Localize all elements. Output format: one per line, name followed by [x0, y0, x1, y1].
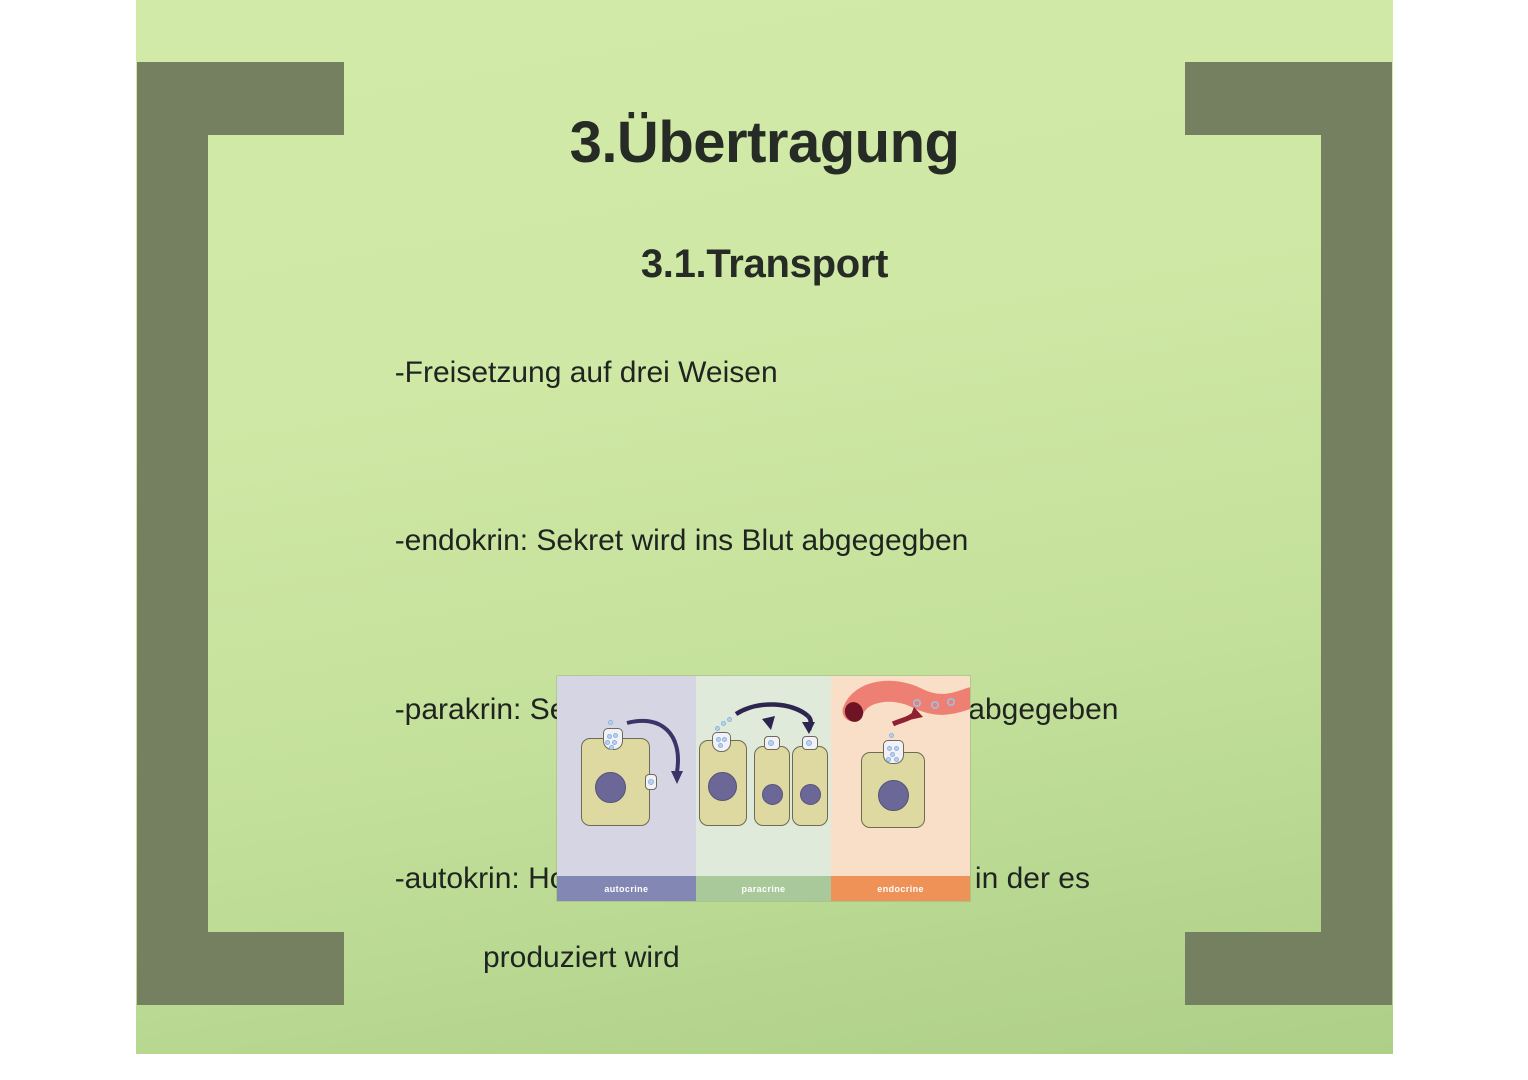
bullet-continuation: produziert wird	[328, 938, 1338, 978]
slide-canvas: 3.Übertragung 3.1.Transport -Freisetzung…	[136, 0, 1393, 1054]
vesicle-granule	[721, 721, 726, 726]
figure-panels	[557, 676, 970, 876]
vesicle-granule	[605, 740, 610, 745]
figure-label-bar: autocrine paracrine endocrine	[557, 876, 970, 901]
bullet-item: -Freisetzung auf drei Weisen	[328, 313, 1338, 432]
bullet-text: -Freisetzung auf drei Weisen	[395, 356, 778, 389]
vesicle-granule	[716, 737, 721, 742]
bullet-text: -endokrin: Sekret wird ins Blut abgegegb…	[395, 524, 969, 557]
slide-title: 3.Übertragung	[136, 113, 1393, 174]
panel-paracrine	[696, 676, 831, 876]
figure-label-autocrine: autocrine	[557, 876, 696, 901]
receptor-granule	[648, 779, 654, 785]
paracrine-target-nucleus-2	[800, 784, 821, 805]
receptor-granule	[806, 740, 812, 746]
figure-label-endocrine: endocrine	[831, 876, 970, 901]
signaling-modes-figure: autocrine paracrine endocrine	[557, 676, 970, 901]
endocrine-nucleus	[878, 780, 909, 811]
vesicle-granule	[722, 737, 727, 742]
bullet-item: -endokrin: Sekret wird ins Blut abgegegb…	[328, 482, 1338, 601]
vesicle-granule	[612, 740, 617, 745]
slide-subtitle: 3.1.Transport	[136, 242, 1393, 287]
paracrine-source-nucleus	[708, 772, 737, 801]
panel-endocrine	[831, 676, 970, 876]
vesicle-granule	[607, 734, 612, 739]
figure-label-paracrine: paracrine	[696, 876, 831, 901]
vesicle-granule	[609, 745, 614, 750]
vesicle-granule	[608, 720, 613, 725]
vesicle-granule	[715, 726, 720, 731]
receptor-granule	[768, 740, 774, 746]
vesicle-granule	[613, 733, 618, 738]
vesicle-granule	[718, 743, 723, 748]
autocrine-nucleus	[595, 772, 626, 803]
paracrine-secretion-bud	[712, 732, 731, 752]
vesicle-granule	[727, 717, 732, 722]
panel-autocrine	[557, 676, 696, 876]
paracrine-target-nucleus-1	[762, 784, 783, 805]
